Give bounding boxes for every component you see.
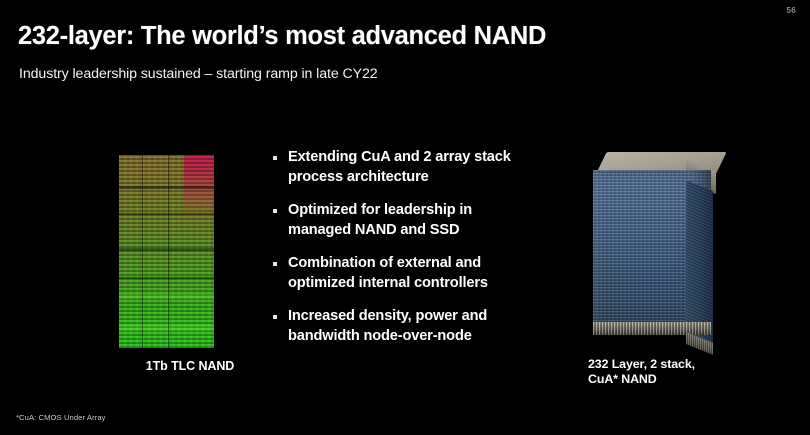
die-photo-via-column xyxy=(142,155,143,348)
bullet-item: Extending CuA and 2 array stack process … xyxy=(272,148,527,187)
bullet-square-icon xyxy=(273,156,277,160)
nand-stack-figure xyxy=(588,152,724,350)
nand-stack-cua-base xyxy=(593,322,711,335)
die-photo-band xyxy=(119,213,214,215)
die-photo-red-region xyxy=(184,155,214,228)
bullet-item-label: Combination of external and optimized in… xyxy=(288,255,488,291)
die-photo-band xyxy=(119,186,214,189)
bullet-item: Increased density, power and bandwidth n… xyxy=(272,307,527,346)
bullet-square-icon xyxy=(273,209,277,213)
page-number: 56 xyxy=(787,6,797,15)
die-photo-band xyxy=(119,248,214,251)
bullet-item-label: Optimized for leadership in managed NAND… xyxy=(288,202,472,238)
die-photo-band xyxy=(119,277,214,279)
page-subtitle: Industry leadership sustained – starting… xyxy=(19,66,378,82)
bullet-item-label: Extending CuA and 2 array stack process … xyxy=(288,149,511,185)
bullet-item: Optimized for leadership in managed NAND… xyxy=(272,201,527,240)
die-photo-band xyxy=(119,325,214,331)
bullet-item-label: Increased density, power and bandwidth n… xyxy=(288,308,487,344)
die-photo-band xyxy=(119,294,214,299)
die-photo-image xyxy=(119,155,214,348)
nand-stack-caption-line2: CuA* NAND xyxy=(588,372,768,387)
bullet-square-icon xyxy=(273,315,277,319)
nand-stack-caption-line1: 232 Layer, 2 stack, xyxy=(588,357,768,372)
page-title: 232-layer: The world’s most advanced NAN… xyxy=(18,22,546,51)
bullet-square-icon xyxy=(273,262,277,266)
bullet-item: Combination of external and optimized in… xyxy=(272,254,527,293)
die-photo-via-column xyxy=(168,155,169,348)
bullet-list: Extending CuA and 2 array stack process … xyxy=(272,148,527,346)
die-photo-caption: 1Tb TLC NAND xyxy=(110,359,270,373)
slide-canvas: 56 232-layer: The world’s most advanced … xyxy=(0,0,810,435)
nand-stack-side-face xyxy=(686,180,713,343)
nand-stack-caption: 232 Layer, 2 stack, CuA* NAND xyxy=(588,357,768,387)
footnote: *CuA: CMOS Under Array xyxy=(16,413,106,422)
die-photo-figure xyxy=(119,155,214,348)
